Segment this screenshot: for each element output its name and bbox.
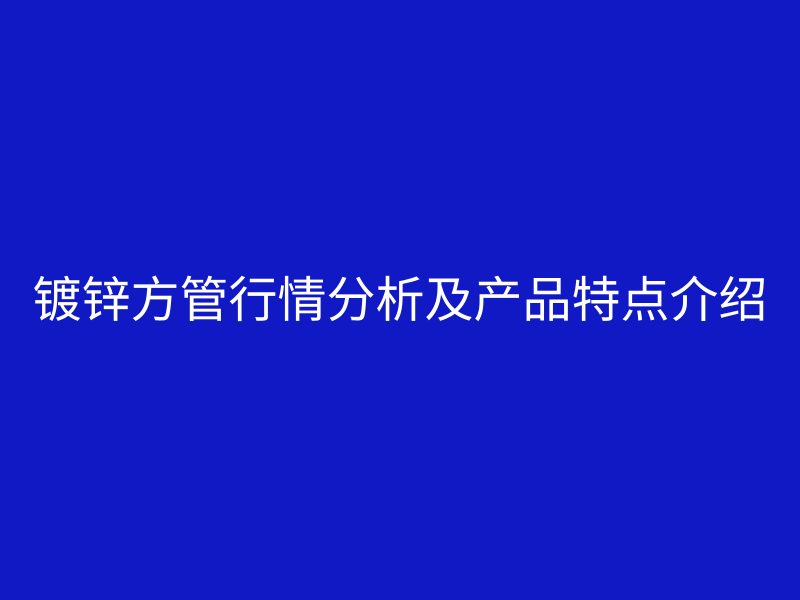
banner-headline: 镀锌方管行情分析及产品特点介绍 — [32, 276, 767, 325]
headline-container: 镀锌方管行情分析及产品特点介绍 — [0, 276, 800, 325]
banner-canvas: 镀锌方管行情分析及产品特点介绍 — [0, 0, 800, 600]
